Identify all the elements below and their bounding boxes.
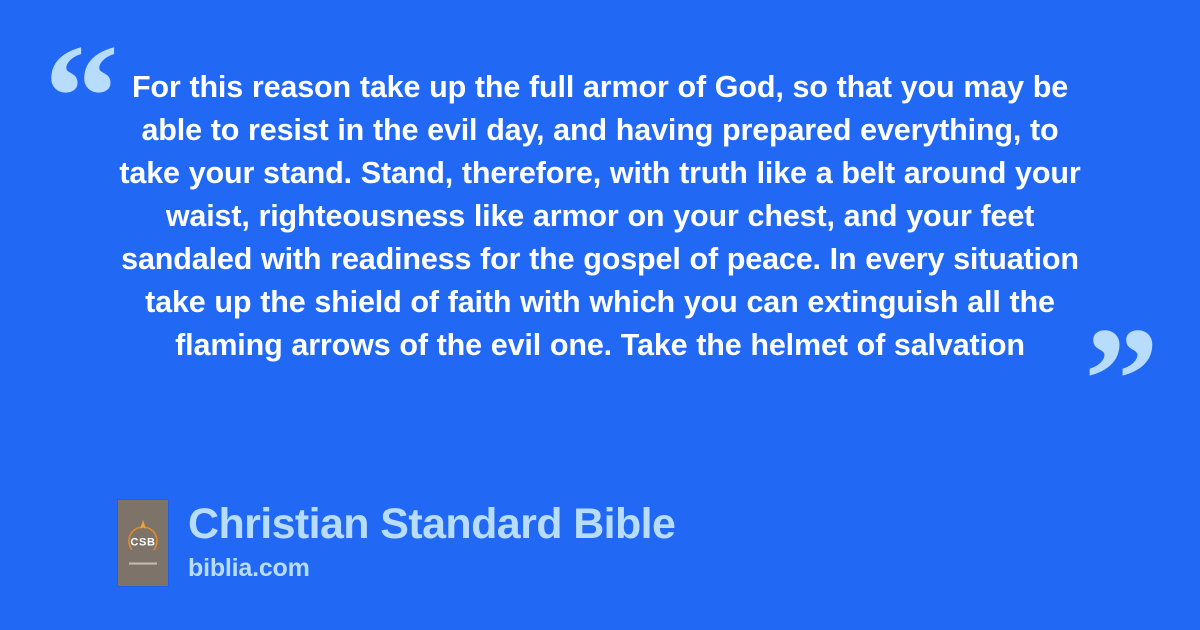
attribution: CSB Christian Standard Bible biblia.com (118, 500, 675, 586)
source-site: biblia.com (188, 548, 675, 582)
close-quote-icon: ” (1084, 305, 1157, 455)
csb-book-cover-icon: CSB (118, 500, 168, 586)
source-title: Christian Standard Bible (188, 500, 675, 548)
attribution-text: Christian Standard Bible biblia.com (188, 500, 675, 582)
open-quote-icon: “ (44, 22, 117, 172)
quote-block: For this reason take up the full armor o… (110, 66, 1090, 367)
quote-text: For this reason take up the full armor o… (110, 66, 1090, 367)
verse-share-card: “ For this reason take up the full armor… (0, 0, 1200, 630)
svg-text:CSB: CSB (130, 537, 155, 549)
